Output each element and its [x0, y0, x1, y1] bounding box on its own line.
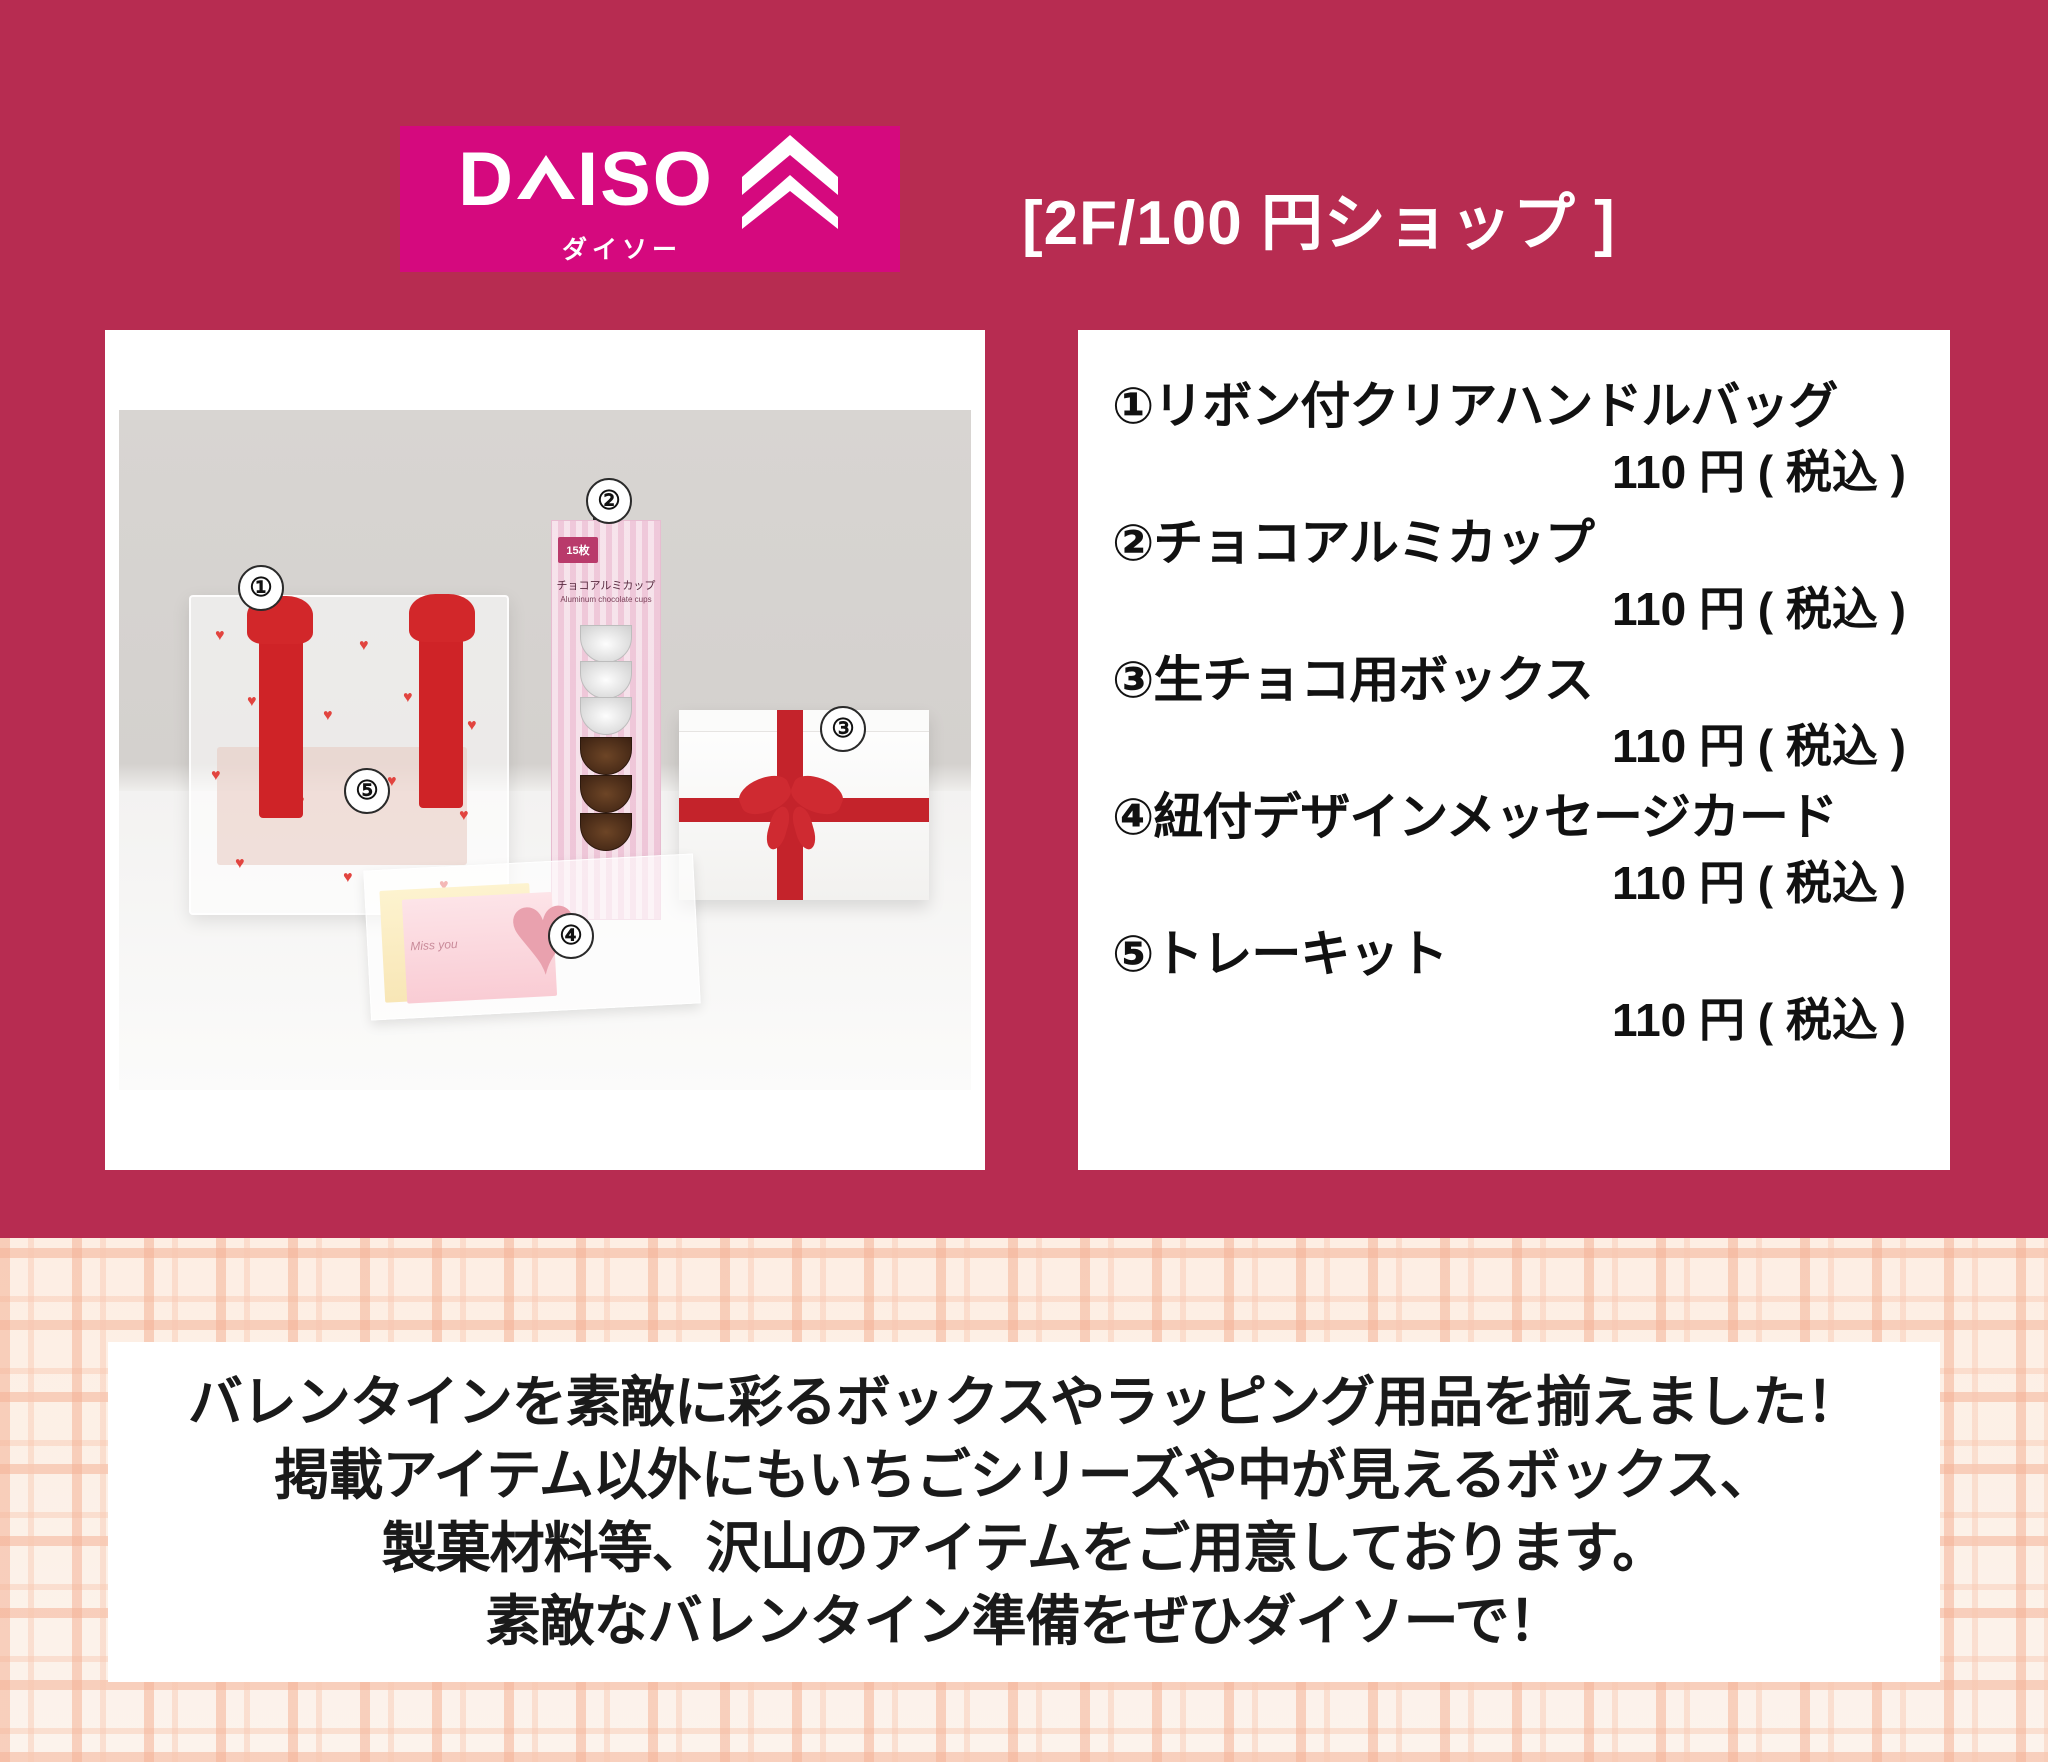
double-chevron-up-icon	[738, 133, 842, 229]
message-card-text: Miss you	[410, 937, 458, 953]
item-name: ②チョコアルミカップ	[1112, 511, 1916, 575]
logo-a-chevron-icon	[515, 149, 577, 205]
item-price: 110 円 ( 税込 )	[1112, 849, 1916, 918]
logo-row: D ISO	[458, 133, 842, 229]
photo-callout-4: ④	[548, 913, 594, 959]
note-line: バレンタインを素敵に彩るボックスやラッピング用品を揃えました！	[188, 1366, 1860, 1439]
gift-ribbon-bow	[739, 772, 843, 844]
note-line: 掲載アイテム以外にもいちごシリーズや中が見えるボックス、	[274, 1439, 1773, 1512]
item-name: ④紐付デザインメッセージカード	[1112, 785, 1916, 849]
bag-ribbon-knot-right	[409, 594, 475, 642]
note-line: 製菓材料等、沢山のアイテムをご用意しております。	[382, 1512, 1666, 1585]
item-name: ①リボン付クリアハンドルバッグ	[1112, 374, 1916, 438]
logo-wordmark: D ISO	[458, 146, 714, 214]
heart-icon: ♥	[459, 807, 469, 825]
item-price: 110 円 ( 税込 )	[1112, 712, 1916, 781]
item-list-card: ①リボン付クリアハンドルバッグ 110 円 ( 税込 ) ②チョコアルミカップ …	[1078, 330, 1950, 1170]
raw-chocolate-gift-box	[679, 710, 929, 900]
item-row: ④紐付デザインメッセージカード 110 円 ( 税込 )	[1112, 785, 1916, 918]
heart-icon: ♥	[467, 717, 477, 735]
top-panel: D ISO ダイソー [2F/100 円ショップ ]	[0, 0, 2048, 1238]
item-price: 110 円 ( 税込 )	[1112, 438, 1916, 507]
heart-icon: ♥	[215, 627, 225, 645]
item-name: ③生チョコ用ボックス	[1112, 648, 1916, 712]
photo-callout-3: ③	[820, 706, 866, 752]
item-price: 110 円 ( 税込 )	[1112, 575, 1916, 644]
photo-callout-5: ⑤	[344, 768, 390, 814]
note-card: バレンタインを素敵に彩るボックスやラッピング用品を揃えました！ 掲載アイテム以外…	[108, 1342, 1940, 1682]
photo-callout-2: ②	[586, 478, 632, 524]
heart-icon: ♥	[323, 707, 333, 725]
pack-count-badge: 15枚	[558, 537, 598, 563]
item-row: ⑤トレーキット 110 円 ( 税込 )	[1112, 922, 1916, 1055]
pack-subtitle: Aluminum chocolate cups	[552, 595, 660, 604]
photo-callout-1: ①	[238, 565, 284, 611]
poster-root: D ISO ダイソー [2F/100 円ショップ ]	[0, 0, 2048, 1762]
heart-icon: ♥	[403, 689, 413, 707]
heart-icon: ♥	[211, 767, 221, 785]
heart-icon: ♥	[343, 869, 353, 887]
heart-icon: ♥	[235, 855, 245, 873]
message-card-pack: Miss you ♥	[363, 853, 700, 1020]
logo-subtitle: ダイソー	[562, 230, 682, 266]
daiso-logo: D ISO ダイソー	[400, 126, 900, 272]
item-row: ②チョコアルミカップ 110 円 ( 税込 )	[1112, 511, 1916, 644]
header-caption: [2F/100 円ショップ ]	[1022, 172, 1616, 262]
heart-icon: ♥	[359, 637, 369, 655]
product-photo-card: ♥ ♥ ♥ ♥ ♥ ♥ ♥ ♥ ♥ ♥ ♥ ♥ ♥ ♥ ♥	[105, 330, 985, 1170]
item-price: 110 円 ( 税込 )	[1112, 986, 1916, 1055]
note-line: 素敵なバレンタイン準備をぜひダイソーで！	[486, 1585, 1563, 1658]
pack-title: チョコアルミカップ	[552, 577, 660, 593]
item-row: ①リボン付クリアハンドルバッグ 110 円 ( 税込 )	[1112, 374, 1916, 507]
item-name: ⑤トレーキット	[1112, 922, 1916, 986]
item-row: ③生チョコ用ボックス 110 円 ( 税込 )	[1112, 648, 1916, 781]
heart-icon: ♥	[247, 693, 257, 711]
gift-box-lid	[679, 710, 929, 732]
